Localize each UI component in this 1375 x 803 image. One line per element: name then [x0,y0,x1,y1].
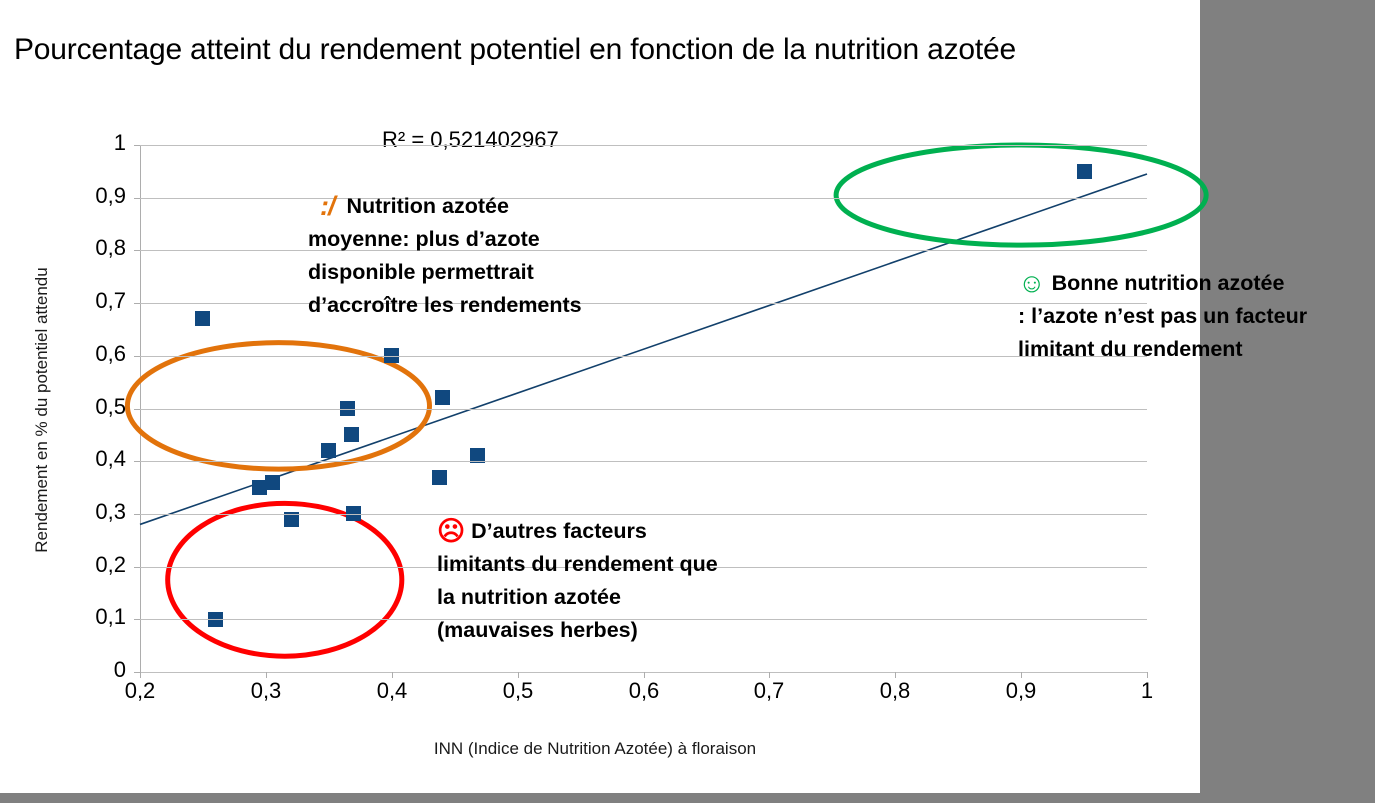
y-axis-tick-label: 1 [62,130,126,156]
annotation-autres-facteurs: ☹ D’autres facteurs limitants du rendeme… [437,515,718,647]
annotation-bonne: ☺ Bonne nutrition azotée : l’azote n’est… [1018,267,1307,366]
y-axis-tick [134,198,140,199]
x-axis-tick-label: 0,5 [483,678,553,704]
y-axis-tick [134,356,140,357]
y-axis-title: Rendement en % du potentiel attendu [32,250,52,570]
annotation-moyenne-line-2: moyenne: plus d’azote [308,223,582,256]
gridline-horizontal [140,303,1147,304]
annotation-autres-line-4: (mauvaises herbes) [437,614,718,647]
annotation-bonne-line-1: Bonne nutrition azotée [1052,271,1285,295]
data-point-marker [1077,164,1092,179]
gridline-horizontal [140,198,1147,199]
y-axis-tick-label: 0,4 [62,446,126,472]
smiley-face-icon: ☺ [1018,268,1046,298]
data-point-marker [344,427,359,442]
neutral-face-icon: :/ [320,191,335,221]
y-axis-tick-label: 0,9 [62,183,126,209]
gray-background-panel-right [1200,0,1375,793]
x-axis-title: INN (Indice de Nutrition Azotée) à flora… [0,739,1190,759]
y-axis-tick [134,619,140,620]
annotation-autres-line-3: la nutrition azotée [437,581,718,614]
annotation-autres-line-2: limitants du rendement que [437,548,718,581]
x-axis-tick-label: 0,7 [734,678,804,704]
data-point-marker [321,443,336,458]
y-axis-tick-label: 0,6 [62,341,126,367]
x-axis-tick-label: 0,6 [609,678,679,704]
y-axis-tick-label: 0,5 [62,394,126,420]
y-axis-tick-label: 0,8 [62,235,126,261]
data-point-marker [435,390,450,405]
page-title: Pourcentage atteint du rendement potenti… [14,33,1174,67]
y-axis-tick-label: 0,3 [62,499,126,525]
x-axis-tick-label: 0,9 [986,678,1056,704]
y-axis-tick [134,514,140,515]
gridline-horizontal [140,409,1147,410]
x-axis-tick-label: 0,2 [105,678,175,704]
y-axis-tick [134,303,140,304]
annotation-moyenne-line-1: Nutrition azotée [346,194,508,218]
x-axis-tick-label: 0,4 [357,678,427,704]
slide-canvas: Pourcentage atteint du rendement potenti… [0,0,1375,803]
x-axis-tick-label: 0,3 [231,678,301,704]
y-axis-tick [134,461,140,462]
x-axis-tick-label: 0,8 [860,678,930,704]
gridline-horizontal [140,145,1147,146]
data-point-marker [432,470,447,485]
gridline-horizontal [140,250,1147,251]
data-point-marker [265,475,280,490]
y-axis-tick-label: 0,2 [62,552,126,578]
frowning-face-icon: ☹ [437,516,465,546]
y-axis-tick-label: 0,7 [62,288,126,314]
annotation-moyenne-line-4: d’accroître les rendements [308,289,582,322]
y-axis-tick [134,250,140,251]
gridline-horizontal [140,356,1147,357]
gridline-horizontal [140,461,1147,462]
annotation-bonne-line-3: limitant du rendement [1018,333,1307,366]
y-axis-tick [134,145,140,146]
y-axis-tick [134,567,140,568]
annotation-moyenne-line-3: disponible permettrait [308,256,582,289]
x-axis-tick-label: 1 [1112,678,1182,704]
gray-background-bar-bottom [0,793,1375,803]
y-axis-tick [134,409,140,410]
slide-left-margin [0,0,3,793]
annotation-moyenne: :/ Nutrition azotée moyenne: plus d’azot… [308,190,582,322]
annotation-autres-line-1: D’autres facteurs [471,519,647,543]
y-axis-tick-label: 0,1 [62,604,126,630]
annotation-bonne-line-2: : l’azote n’est pas un facteur [1018,300,1307,333]
data-point-marker [195,311,210,326]
